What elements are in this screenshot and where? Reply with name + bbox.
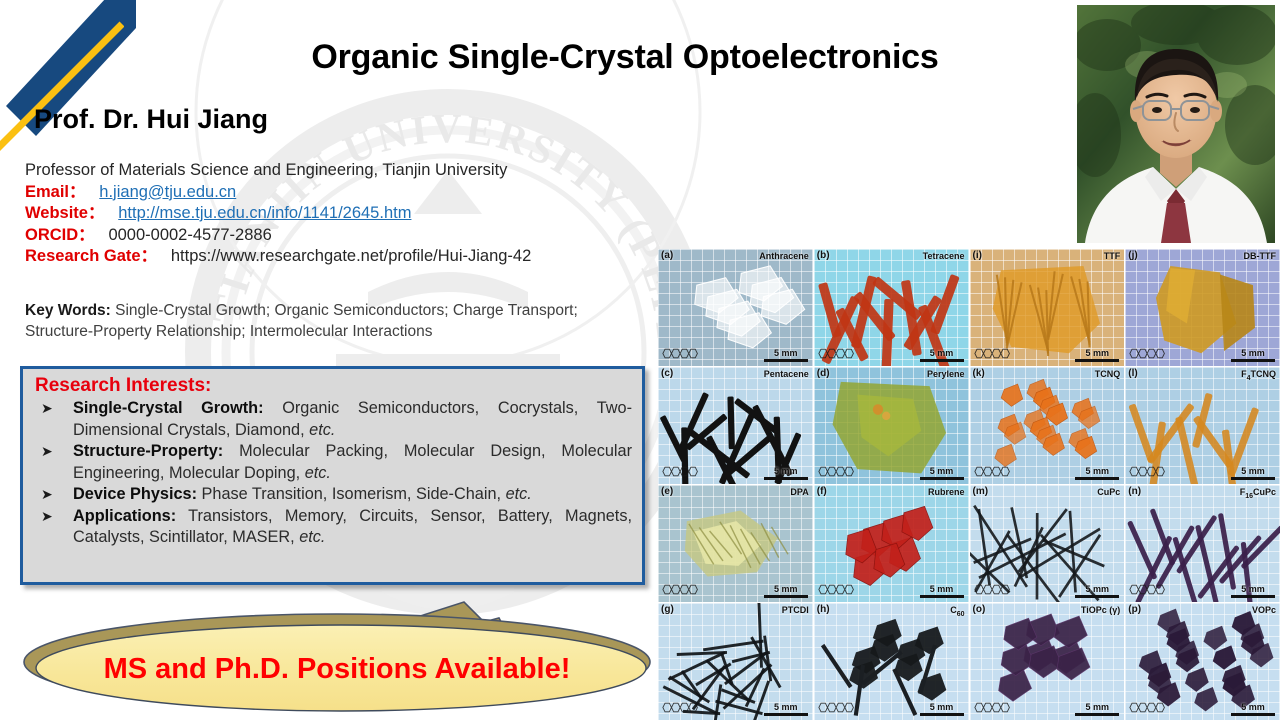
panel-compound-label: Tetracene [923, 251, 965, 261]
crystal-panel[interactable]: (k)TCNQ5 mm [970, 367, 1125, 484]
research-interest-etc: etc. [309, 421, 335, 439]
panel-compound-label: F4TCNQ [1241, 369, 1276, 382]
research-interests-title: Research Interests: [35, 375, 634, 397]
contact-block: Professor of Materials Science and Engin… [25, 160, 665, 268]
scale-bar: 5 mm [764, 466, 808, 480]
scale-bar-line [1075, 477, 1119, 480]
panel-letter-label: (k) [973, 368, 985, 379]
email-label: Email： [25, 183, 86, 201]
crystal-panel[interactable]: (m)CuPc5 mm [970, 485, 1125, 602]
positions-available-callout [14, 592, 660, 716]
molecular-structure-icon [817, 462, 857, 481]
scale-bar: 5 mm [1231, 466, 1275, 480]
bullet-arrow-icon: ➤ [41, 441, 53, 463]
scale-bar-line [764, 595, 808, 598]
crystal-panel[interactable]: (d)Perylene5 mm [814, 367, 969, 484]
scale-bar-line [764, 477, 808, 480]
panel-compound-label: DB-TTF [1244, 251, 1277, 261]
research-interest-item: ➤Applications: Transistors, Memory, Circ… [29, 506, 634, 549]
scale-bar-label: 5 mm [774, 584, 798, 594]
molecular-structure-icon [1128, 344, 1168, 363]
molecular-structure-icon [973, 344, 1013, 363]
molecular-structure-icon [1128, 698, 1168, 717]
scale-bar-line [1231, 477, 1275, 480]
scale-bar: 5 mm [764, 348, 808, 362]
affiliation-text: Professor of Materials Science and Engin… [25, 161, 507, 179]
crystal-panel[interactable]: (j)DB-TTF5 mm [1125, 249, 1280, 366]
crystal-panel[interactable]: (b)Tetracene5 mm [814, 249, 969, 366]
scale-bar-label: 5 mm [774, 348, 798, 358]
molecular-structure-icon [661, 580, 701, 599]
scale-bar-line [764, 713, 808, 716]
scale-bar: 5 mm [764, 584, 808, 598]
bullet-arrow-icon: ➤ [41, 398, 53, 420]
molecular-structure-icon [817, 698, 857, 717]
scale-bar-label: 5 mm [1241, 584, 1265, 594]
crystal-photo-grid: (a)Anthracene5 mm(b)Tetracene5 mm(i)TTF5… [658, 249, 1280, 720]
research-interest-etc: etc. [299, 528, 325, 546]
scale-bar: 5 mm [920, 348, 964, 362]
scale-bar-line [1075, 595, 1119, 598]
panel-compound-label: TTF [1104, 251, 1121, 261]
panel-compound-label: Anthracene [759, 251, 809, 261]
email-link[interactable]: h.jiang@tju.edu.cn [99, 183, 236, 201]
panel-compound-label: CuPc [1097, 487, 1120, 497]
molecular-structure-icon [973, 462, 1013, 481]
crystal-panel[interactable]: (a)Anthracene5 mm [658, 249, 813, 366]
crystal-panel[interactable]: (f)Rubrene5 mm [814, 485, 969, 602]
scale-bar-line [764, 359, 808, 362]
scale-bar-label: 5 mm [1241, 702, 1265, 712]
panel-compound-label: C60 [950, 605, 964, 618]
orcid-label: ORCID： [25, 226, 95, 244]
scale-bar-label: 5 mm [1241, 348, 1265, 358]
scale-bar: 5 mm [920, 584, 964, 598]
research-interest-item: ➤Structure-Property: Molecular Packing, … [29, 441, 634, 484]
panel-compound-label: F16CuPc [1240, 487, 1276, 500]
molecular-structure-icon [973, 698, 1013, 717]
panel-letter-label: (j) [1128, 250, 1137, 261]
molecular-structure-icon [817, 344, 857, 363]
research-interest-etc: etc. [506, 485, 532, 503]
crystal-panel[interactable]: (g)PTCDI5 mm [658, 603, 813, 720]
decorative-yellow-stripe [0, 10, 124, 160]
scale-bar-line [920, 477, 964, 480]
scale-bar-line [1231, 359, 1275, 362]
scale-bar-label: 5 mm [930, 348, 954, 358]
research-interest-body: Phase Transition, Isomerism, Side-Chain, [197, 485, 506, 503]
research-interest-heading: Single-Crystal Growth: [73, 399, 264, 417]
panel-letter-label: (l) [1128, 368, 1137, 379]
affiliation-line: Professor of Materials Science and Engin… [25, 160, 665, 182]
scale-bar: 5 mm [1231, 584, 1275, 598]
avatar [1077, 5, 1275, 243]
scale-bar: 5 mm [764, 702, 808, 716]
research-interest-heading: Applications: [73, 507, 176, 525]
panel-letter-label: (a) [661, 250, 673, 261]
molecular-structure-icon [1128, 580, 1168, 599]
panel-compound-label: Rubrene [928, 487, 965, 497]
panel-letter-label: (m) [973, 486, 989, 497]
crystal-panel[interactable]: (i)TTF5 mm [970, 249, 1125, 366]
panel-compound-label: TiOPc (γ) [1081, 605, 1120, 615]
researchgate-value: https://www.researchgate.net/profile/Hui… [171, 247, 531, 265]
scale-bar-label: 5 mm [930, 702, 954, 712]
scale-bar-label: 5 mm [930, 466, 954, 476]
research-interest-heading: Device Physics: [73, 485, 197, 503]
crystal-panel[interactable]: (c)Pentacene5 mm [658, 367, 813, 484]
scale-bar-label: 5 mm [1085, 348, 1109, 358]
orcid-line: ORCID： 0000-0002-4577-2886 [25, 225, 665, 247]
panel-letter-label: (n) [1128, 486, 1141, 497]
research-interest-item: ➤Device Physics: Phase Transition, Isome… [29, 484, 634, 506]
scale-bar-label: 5 mm [1241, 466, 1265, 476]
scale-bar: 5 mm [920, 466, 964, 480]
panel-letter-label: (e) [661, 486, 673, 497]
scale-bar: 5 mm [1075, 466, 1119, 480]
scale-bar: 5 mm [1231, 702, 1275, 716]
scale-bar-label: 5 mm [1085, 584, 1109, 594]
scale-bar: 5 mm [1075, 348, 1119, 362]
panel-letter-label: (f) [817, 486, 827, 497]
molecular-structure-icon [973, 580, 1013, 599]
molecular-structure-icon [661, 344, 701, 363]
scale-bar: 5 mm [920, 702, 964, 716]
scale-bar-line [920, 359, 964, 362]
panel-letter-label: (b) [817, 250, 830, 261]
crystal-panel[interactable]: (p)VOPc5 mm [1125, 603, 1280, 720]
panel-compound-label: Perylene [927, 369, 965, 379]
bullet-arrow-icon: ➤ [41, 506, 53, 528]
molecular-structure-icon [817, 580, 857, 599]
research-interests-list: ➤Single-Crystal Growth: Organic Semicond… [29, 398, 634, 549]
website-label: Website： [25, 204, 104, 222]
research-interest-heading: Structure-Property: [73, 442, 223, 460]
crystal-panel[interactable]: (l)F4TCNQ5 mm [1125, 367, 1280, 484]
panel-letter-label: (g) [661, 604, 674, 615]
research-interest-item: ➤Single-Crystal Growth: Organic Semicond… [29, 398, 634, 441]
scale-bar-label: 5 mm [930, 584, 954, 594]
scale-bar-label: 5 mm [774, 466, 798, 476]
panel-compound-label: TCNQ [1095, 369, 1121, 379]
scale-bar-line [920, 713, 964, 716]
panel-compound-label: Pentacene [764, 369, 809, 379]
panel-letter-label: (d) [817, 368, 830, 379]
scale-bar: 5 mm [1231, 348, 1275, 362]
website-link[interactable]: http://mse.tju.edu.cn/info/1141/2645.htm [118, 204, 411, 222]
scale-bar-line [1075, 713, 1119, 716]
scale-bar: 5 mm [1075, 702, 1119, 716]
panel-letter-label: (o) [973, 604, 986, 615]
panel-compound-label: DPA [790, 487, 808, 497]
research-interest-etc: etc. [305, 464, 331, 482]
panel-compound-label: PTCDI [782, 605, 809, 615]
panel-letter-label: (h) [817, 604, 830, 615]
scale-bar-line [1231, 713, 1275, 716]
presenter-name: Prof. Dr. Hui Jiang [34, 104, 268, 135]
panel-letter-label: (i) [973, 250, 982, 261]
crystal-panel[interactable]: (e)DPA5 mm [658, 485, 813, 602]
email-line: Email： h.jiang@tju.edu.cn [25, 182, 665, 204]
scale-bar-label: 5 mm [1085, 702, 1109, 712]
scale-bar-line [1231, 595, 1275, 598]
keywords-label: Key Words: [25, 302, 111, 319]
research-interests-box: Research Interests: ➤Single-Crystal Grow… [20, 366, 645, 585]
scale-bar: 5 mm [1075, 584, 1119, 598]
bullet-arrow-icon: ➤ [41, 484, 53, 506]
panel-letter-label: (p) [1128, 604, 1141, 615]
molecular-structure-icon [661, 698, 701, 717]
crystal-panel[interactable]: (h)C605 mm [814, 603, 969, 720]
scale-bar-line [920, 595, 964, 598]
researchgate-label: Research Gate： [25, 247, 157, 265]
crystal-panel[interactable]: (o)TiOPc (γ)5 mm [970, 603, 1125, 720]
molecular-structure-icon [1128, 462, 1168, 481]
crystal-panel[interactable]: (n)F16CuPc5 mm [1125, 485, 1280, 602]
panel-letter-label: (c) [661, 368, 673, 379]
slide-canvas: TIANJIN UNIVERSITY (PEIYANG) Organic Sin… [0, 0, 1280, 720]
researchgate-line: Research Gate： https://www.researchgate.… [25, 246, 665, 268]
orcid-value: 0000-0002-4577-2886 [108, 226, 271, 244]
website-line: Website： http://mse.tju.edu.cn/info/1141… [25, 203, 665, 225]
page-title: Organic Single-Crystal Optoelectronics [190, 38, 1060, 77]
molecular-structure-icon [661, 462, 701, 481]
keywords-block: Key Words: Single-Crystal Growth; Organi… [25, 300, 590, 342]
scale-bar-line [1075, 359, 1119, 362]
scale-bar-label: 5 mm [1085, 466, 1109, 476]
panel-compound-label: VOPc [1252, 605, 1276, 615]
scale-bar-label: 5 mm [774, 702, 798, 712]
